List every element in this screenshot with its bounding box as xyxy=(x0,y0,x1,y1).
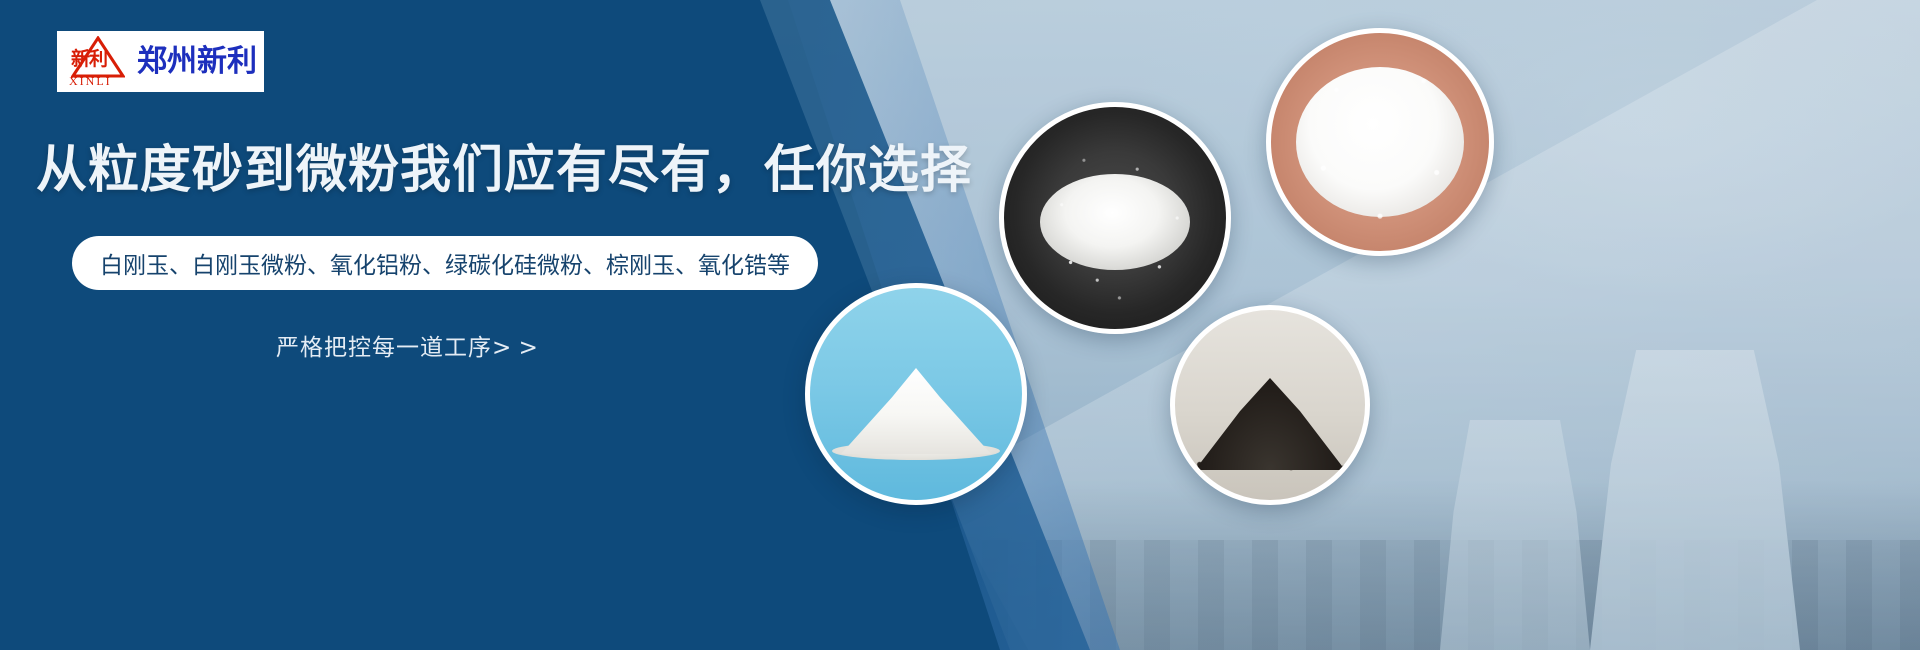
grain-specks xyxy=(1004,107,1226,329)
logo-mark: 新利 XINLI xyxy=(65,34,131,89)
logo-mark-cn-text: 新利 xyxy=(71,50,107,69)
product-photo-white-powder-cone-blue xyxy=(805,283,1027,505)
product-photo-white-powder-terracotta-bowl xyxy=(1266,28,1494,256)
product-photo-black-grains-heap xyxy=(1170,305,1370,505)
promo-banner: 新利 XINLI 郑州新利 从粒度砂到微粉我们应有尽有，任你选择 白刚玉、白刚玉… xyxy=(0,0,1920,650)
cta-arrows: > > xyxy=(492,335,538,361)
headline: 从粒度砂到微粉我们应有尽有，任你选择 xyxy=(36,142,972,199)
powder-cone xyxy=(841,368,991,454)
product-list-pill[interactable]: 白刚玉、白刚玉微粉、氧化铝粉、绿碳化硅微粉、棕刚玉、氧化锆等 xyxy=(72,236,818,290)
grain-heap xyxy=(1195,378,1345,470)
logo-mark-en-text: XINLI xyxy=(69,75,112,87)
logo-company-name: 郑州新利 xyxy=(137,47,257,77)
product-list-text: 白刚玉、白刚玉微粉、氧化铝粉、绿碳化硅微粉、棕刚玉、氧化锆等 xyxy=(100,246,790,280)
company-logo[interactable]: 新利 XINLI 郑州新利 xyxy=(57,31,264,92)
product-photo-white-grains-dark-plate xyxy=(999,102,1231,334)
cta-label: 严格把控每一道工序 xyxy=(276,335,492,361)
cta-link[interactable]: 严格把控每一道工序> > xyxy=(276,328,538,362)
grain-specks xyxy=(1271,33,1489,251)
